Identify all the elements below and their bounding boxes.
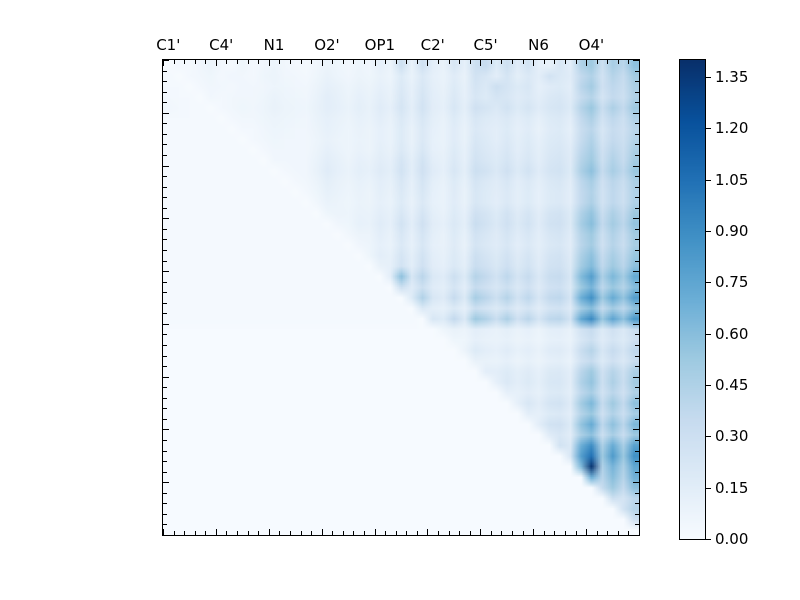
x-tick	[258, 60, 259, 64]
y-tick	[635, 514, 639, 515]
x-tick	[449, 60, 450, 64]
y-tick	[163, 197, 167, 198]
y-tick	[635, 408, 639, 409]
x-tick	[523, 531, 524, 535]
x-tick	[576, 60, 577, 64]
x-tick-label: C5'	[474, 36, 498, 54]
x-tick	[364, 531, 365, 535]
y-tick	[163, 113, 169, 114]
y-tick	[633, 271, 639, 272]
y-tick	[163, 387, 167, 388]
x-tick	[311, 60, 312, 64]
x-tick	[205, 531, 206, 535]
x-tick	[628, 531, 629, 535]
y-tick	[635, 451, 639, 452]
x-tick	[226, 60, 227, 64]
x-tick	[269, 529, 270, 535]
colorbar-tick-label: 0.75	[715, 273, 748, 291]
heatmap-image[interactable]	[163, 60, 639, 535]
y-tick	[163, 451, 167, 452]
y-tick	[163, 218, 169, 219]
y-tick	[163, 155, 167, 156]
y-tick	[163, 208, 167, 209]
x-tick	[396, 531, 397, 535]
x-tick-label: O4'	[579, 36, 604, 54]
y-tick	[635, 71, 639, 72]
x-tick	[628, 60, 629, 64]
x-tick	[322, 60, 323, 66]
y-tick	[635, 282, 639, 283]
x-tick	[216, 529, 217, 535]
x-tick	[597, 531, 598, 535]
x-tick	[174, 531, 175, 535]
x-tick	[438, 531, 439, 535]
y-tick	[635, 102, 639, 103]
colorbar-tick	[706, 128, 711, 129]
x-tick	[491, 531, 492, 535]
x-tick	[470, 60, 471, 64]
colorbar-tick	[706, 180, 711, 181]
y-tick	[163, 356, 167, 357]
y-tick	[635, 345, 639, 346]
x-tick	[301, 60, 302, 64]
colorbar-tick	[706, 539, 711, 540]
x-tick	[417, 531, 418, 535]
y-tick	[635, 176, 639, 177]
x-tick	[184, 60, 185, 64]
y-tick	[635, 535, 639, 536]
y-tick	[163, 187, 167, 188]
x-tick	[544, 531, 545, 535]
y-tick	[163, 535, 167, 536]
y-tick	[635, 261, 639, 262]
x-tick	[322, 529, 323, 535]
x-tick	[459, 531, 460, 535]
x-tick	[618, 60, 619, 64]
x-tick	[554, 60, 555, 64]
x-tick	[195, 531, 196, 535]
x-tick	[269, 60, 270, 66]
x-tick	[279, 531, 280, 535]
x-tick	[385, 60, 386, 64]
y-tick	[163, 398, 167, 399]
x-tick-label: C4'	[209, 36, 233, 54]
x-tick	[237, 531, 238, 535]
x-tick	[459, 60, 460, 64]
y-tick	[635, 503, 639, 504]
colorbar-tick	[706, 385, 711, 386]
x-tick	[597, 60, 598, 64]
y-tick	[635, 524, 639, 525]
y-tick	[163, 271, 169, 272]
y-tick	[635, 134, 639, 135]
x-tick	[501, 60, 502, 64]
y-tick	[635, 493, 639, 494]
y-tick	[163, 102, 167, 103]
y-tick	[635, 334, 639, 335]
y-tick	[633, 60, 639, 61]
x-tick	[438, 60, 439, 64]
colorbar-tick-label: 0.90	[715, 222, 748, 240]
y-tick	[635, 250, 639, 251]
y-tick	[163, 292, 167, 293]
y-tick	[635, 197, 639, 198]
x-tick	[533, 529, 534, 535]
x-tick	[607, 531, 608, 535]
x-tick	[554, 531, 555, 535]
x-tick-label: N6	[528, 36, 549, 54]
x-tick	[576, 531, 577, 535]
y-tick	[163, 419, 167, 420]
x-tick	[205, 60, 206, 64]
y-tick	[163, 81, 167, 82]
x-tick	[427, 529, 428, 535]
y-tick	[163, 472, 167, 473]
x-tick	[216, 60, 217, 66]
colorbar-tick-label: 1.35	[715, 68, 748, 86]
x-tick	[353, 531, 354, 535]
x-tick	[427, 60, 428, 66]
x-tick	[618, 531, 619, 535]
x-tick	[406, 531, 407, 535]
y-tick	[163, 229, 167, 230]
y-tick	[163, 324, 169, 325]
y-tick	[635, 123, 639, 124]
x-tick	[565, 531, 566, 535]
y-tick	[635, 440, 639, 441]
colorbar-tick	[706, 488, 711, 489]
y-tick	[635, 239, 639, 240]
x-tick	[501, 531, 502, 535]
y-tick	[163, 92, 167, 93]
y-tick	[163, 377, 169, 378]
y-tick	[635, 419, 639, 420]
x-tick	[343, 60, 344, 64]
x-tick	[353, 60, 354, 64]
x-tick	[523, 60, 524, 64]
x-tick	[586, 60, 587, 66]
x-tick	[332, 531, 333, 535]
colorbar-tick-label: 0.30	[715, 427, 748, 445]
x-tick	[586, 529, 587, 535]
x-tick	[195, 60, 196, 64]
x-tick-label: OP1	[365, 36, 395, 54]
x-tick	[279, 60, 280, 64]
x-tick	[396, 60, 397, 64]
x-tick	[512, 60, 513, 64]
x-tick	[258, 531, 259, 535]
y-tick	[163, 503, 167, 504]
y-tick	[635, 208, 639, 209]
colorbar-tick-label: 0.00	[715, 530, 748, 548]
y-tick	[163, 493, 167, 494]
y-tick	[163, 461, 167, 462]
x-tick	[449, 531, 450, 535]
x-tick	[512, 531, 513, 535]
colorbar-tick-label: 1.20	[715, 119, 748, 137]
heatmap-axes[interactable]: C1'C4'N1O2'OP1C2'C5'N6O4' C1'C4'N1O2'OP1…	[162, 59, 640, 536]
y-tick	[633, 218, 639, 219]
y-tick	[635, 144, 639, 145]
x-tick	[417, 60, 418, 64]
y-tick	[163, 166, 169, 167]
y-tick	[635, 187, 639, 188]
x-tick	[290, 60, 291, 64]
y-tick	[163, 366, 167, 367]
x-tick	[237, 60, 238, 64]
y-tick	[635, 229, 639, 230]
colorbar-tick-label: 0.45	[715, 376, 748, 394]
x-tick	[607, 60, 608, 64]
x-tick	[544, 60, 545, 64]
y-tick	[163, 334, 167, 335]
figure-canvas: C1'C4'N1O2'OP1C2'C5'N6O4' C1'C4'N1O2'OP1…	[0, 0, 800, 600]
colorbar-tick	[706, 334, 711, 335]
y-tick	[635, 155, 639, 156]
y-tick	[635, 387, 639, 388]
x-tick	[343, 531, 344, 535]
y-tick	[163, 282, 167, 283]
y-tick	[635, 292, 639, 293]
y-tick	[163, 261, 167, 262]
y-tick	[163, 303, 167, 304]
x-tick-label: C1'	[156, 36, 180, 54]
y-tick	[163, 71, 167, 72]
y-tick	[635, 313, 639, 314]
x-tick	[491, 60, 492, 64]
y-tick	[633, 166, 639, 167]
y-tick	[163, 440, 167, 441]
y-tick	[163, 250, 167, 251]
y-tick	[635, 81, 639, 82]
x-tick	[226, 531, 227, 535]
y-tick	[633, 113, 639, 114]
x-tick	[565, 60, 566, 64]
y-tick	[633, 482, 639, 483]
y-tick	[635, 461, 639, 462]
x-tick	[639, 60, 640, 64]
y-tick	[633, 377, 639, 378]
x-tick	[248, 60, 249, 64]
x-tick	[480, 529, 481, 535]
x-tick	[364, 60, 365, 64]
x-tick	[174, 60, 175, 64]
colorbar-gradient	[679, 59, 706, 540]
colorbar-tick	[706, 231, 711, 232]
y-tick	[163, 134, 167, 135]
colorbar-tick	[706, 77, 711, 78]
colorbar-image	[680, 60, 705, 539]
y-tick	[163, 123, 167, 124]
y-tick	[635, 472, 639, 473]
y-tick	[633, 324, 639, 325]
x-tick	[480, 60, 481, 66]
y-tick	[163, 482, 169, 483]
y-tick	[163, 144, 167, 145]
x-tick-label: O2'	[314, 36, 339, 54]
y-tick	[635, 398, 639, 399]
colorbar-tick-label: 0.15	[715, 479, 748, 497]
y-tick	[163, 408, 167, 409]
y-tick	[163, 429, 169, 430]
x-tick-label: N1	[264, 36, 285, 54]
y-tick	[163, 239, 167, 240]
x-tick	[332, 60, 333, 64]
y-tick	[635, 356, 639, 357]
x-tick	[639, 531, 640, 535]
x-tick	[184, 531, 185, 535]
colorbar-tick-label: 1.05	[715, 171, 748, 189]
colorbar[interactable]: 0.000.150.300.450.600.750.901.051.201.35	[679, 59, 706, 540]
colorbar-tick	[706, 282, 711, 283]
y-tick	[635, 366, 639, 367]
x-tick	[533, 60, 534, 66]
x-tick	[290, 531, 291, 535]
colorbar-tick-label: 0.60	[715, 325, 748, 343]
y-tick	[633, 429, 639, 430]
y-tick	[163, 514, 167, 515]
x-tick	[311, 531, 312, 535]
colorbar-tick	[706, 436, 711, 437]
x-tick	[301, 531, 302, 535]
x-tick	[470, 531, 471, 535]
y-tick	[163, 176, 167, 177]
x-tick	[406, 60, 407, 64]
y-tick	[163, 524, 167, 525]
y-tick	[635, 303, 639, 304]
y-tick	[163, 60, 169, 61]
x-tick	[375, 60, 376, 66]
x-tick	[385, 531, 386, 535]
y-tick	[163, 345, 167, 346]
x-tick	[375, 529, 376, 535]
x-tick	[248, 531, 249, 535]
x-tick-label: C2'	[421, 36, 445, 54]
y-tick	[163, 313, 167, 314]
y-tick	[635, 92, 639, 93]
